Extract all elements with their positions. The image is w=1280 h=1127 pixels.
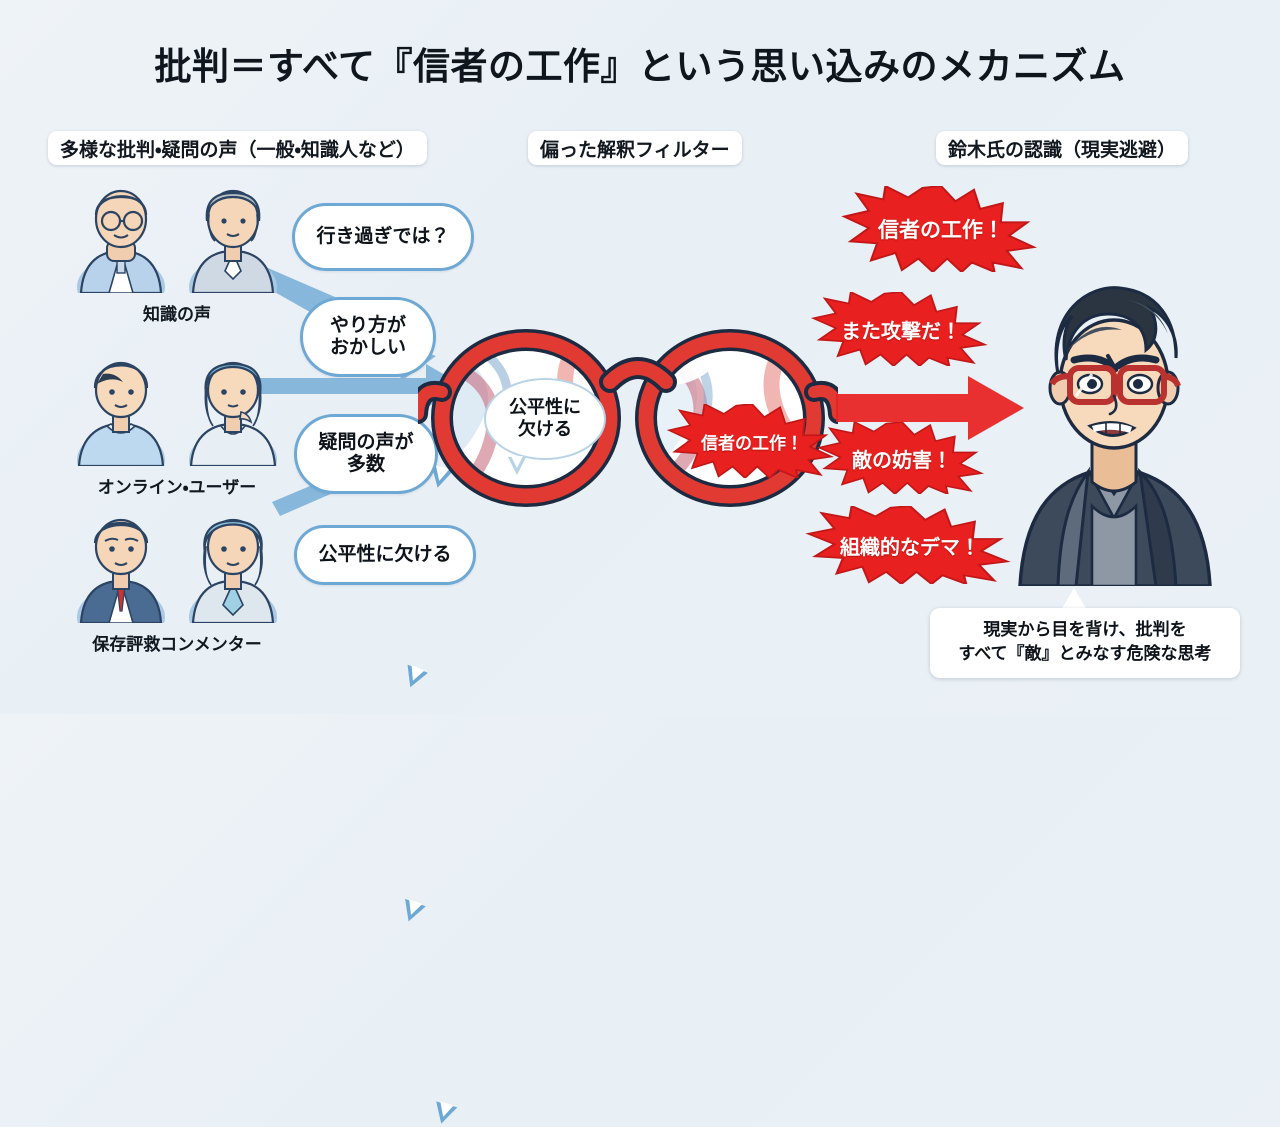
left-lens-label-line: 公平性に <box>509 397 581 419</box>
speech-bubble-3: 疑問の声が 多数 <box>294 414 438 494</box>
speech-bubble-line: 行き過ぎでは？ <box>316 226 449 248</box>
person-commentator-man-icon <box>67 505 175 623</box>
starburst-text: 敵の妨害！ <box>852 444 952 473</box>
person-young-woman-icon <box>179 348 287 466</box>
section-header-left: 多様な批判・疑問の声（一般・知識人など） <box>48 131 427 165</box>
starburst-3: 敵の妨害！ <box>814 422 990 494</box>
bottom-note-line: すべて『敵』とみなす危険な思考 <box>940 642 1230 666</box>
speech-bubble-line: 疑問の声が <box>318 432 413 454</box>
speech-bubble-tail <box>400 665 428 692</box>
starburst-text: 信者の工作！ <box>701 429 803 454</box>
starburst-2: また攻撃だ！ <box>808 292 994 366</box>
starburst-text: 信者の工作！ <box>878 214 1004 244</box>
people-group-commentators: 保存評救コンメンター <box>62 505 292 655</box>
bottom-note-line: 現実から目を背け、批判を <box>940 618 1230 642</box>
person-elder-woman-icon <box>179 175 287 293</box>
people-group-caption: 保存評救コンメンター <box>62 630 292 655</box>
starburst-text: 組織的なデマ！ <box>840 531 980 560</box>
speech-bubble-line: 公平性に欠ける <box>318 544 451 566</box>
people-group-caption: 知識の声 <box>62 300 292 325</box>
section-header-middle: 偏った解釈フィルター <box>528 131 742 165</box>
speech-bubble-tail <box>398 899 426 925</box>
infographic-canvas: 批判＝すべて『信者の工作』という思い込みのメカニズム 多様な批判・疑問の声（一般… <box>0 0 1280 714</box>
person-commentator-woman-icon <box>179 505 287 623</box>
page-title: 批判＝すべて『信者の工作』という思い込みのメカニズム <box>0 36 1280 90</box>
bottom-note: 現実から目を背け、批判を すべて『敵』とみなす危険な思考 <box>930 608 1240 678</box>
people-group-online-users: オンライン・ユーザー <box>62 348 292 498</box>
left-lens-label-tail <box>508 457 526 475</box>
people-illustration-row <box>62 175 292 293</box>
speech-bubble-4: 公平性に欠ける <box>294 525 476 585</box>
people-group-caption: オンライン・ユーザー <box>62 473 292 498</box>
speech-bubble-tail <box>431 1101 458 1126</box>
left-lens-label-line: 欠ける <box>518 419 572 441</box>
person-young-man-icon <box>67 348 175 466</box>
speech-bubble-line: 多数 <box>347 454 385 476</box>
people-illustration-row <box>62 348 292 466</box>
people-group-intellectuals: 知識の声 <box>62 175 292 325</box>
left-lens-label: 公平性に 欠ける <box>484 378 606 460</box>
person-elder-man-icon <box>67 175 175 293</box>
speech-bubble-1: 行き過ぎでは？ <box>292 203 474 271</box>
speech-bubble-line: おかしい <box>330 337 406 359</box>
speech-bubble-2: やり方が おかしい <box>300 297 436 377</box>
speech-bubble-line: やり方が <box>330 315 406 337</box>
people-illustration-row <box>62 505 292 623</box>
character-portrait-suzuki <box>980 256 1248 586</box>
section-header-right: 鈴木氏の認識（現実逃避） <box>936 131 1188 165</box>
starburst-text: また攻撃だ！ <box>841 315 961 344</box>
